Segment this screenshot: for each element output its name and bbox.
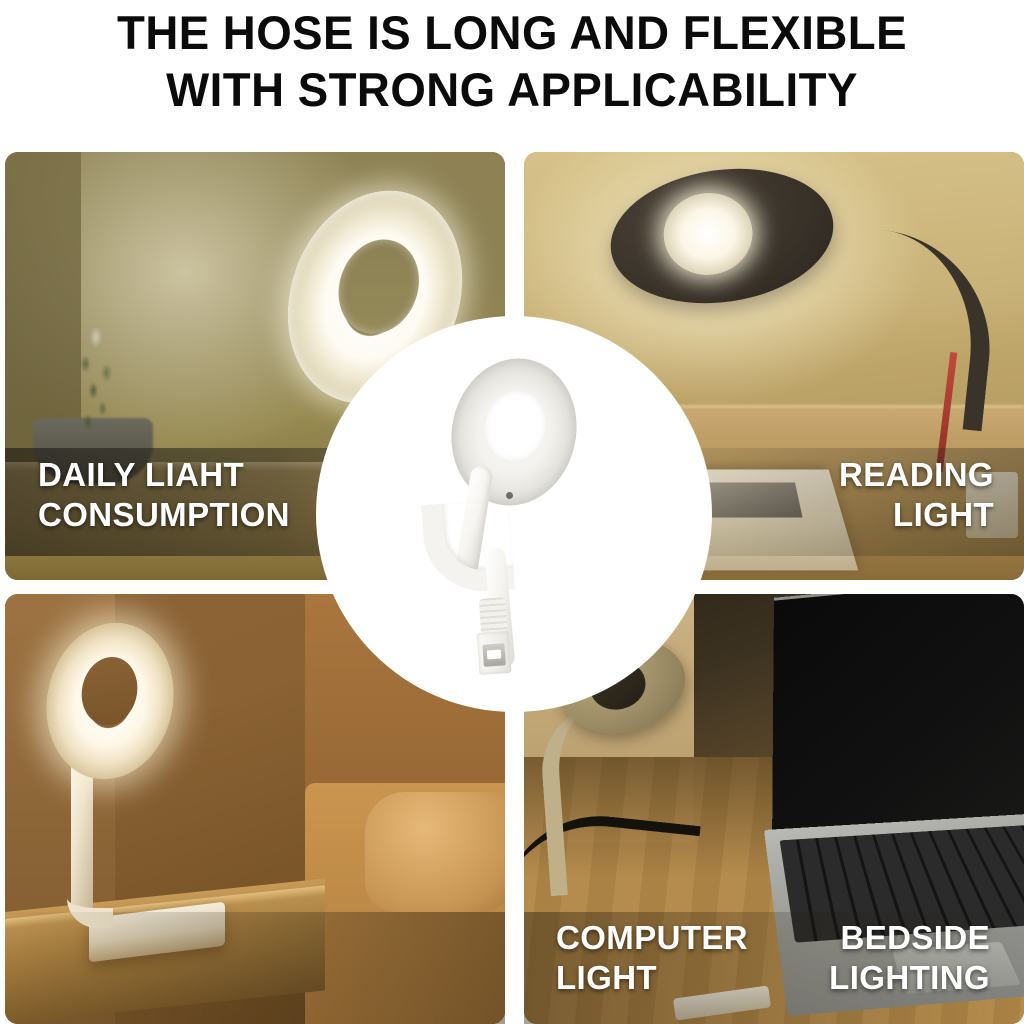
infographic-page: THE HOSE IS LONG AND FLEXIBLE WITH STRON… xyxy=(0,0,1024,1024)
caption-daily-light-consumption: DAILY LIAHT CONSUMPTION xyxy=(38,455,290,535)
usb-a-plug-icon xyxy=(477,631,512,675)
caption-bedside-lighting: BEDSIDE LIGHTING xyxy=(829,918,990,998)
magazine-photo-right xyxy=(709,482,803,517)
caption-computer-light: COMPUTER LIGHT xyxy=(556,918,748,998)
touch-button-icon xyxy=(506,492,513,499)
pillow xyxy=(365,792,505,912)
product-callout-circle xyxy=(316,316,712,712)
ring-light-head-icon xyxy=(438,347,590,518)
plant-foliage xyxy=(63,328,129,440)
laptop-screen: acer xyxy=(772,594,1024,852)
usb-strain-relief xyxy=(479,597,507,635)
caption-reading-light: READING LIGHT xyxy=(839,455,994,535)
